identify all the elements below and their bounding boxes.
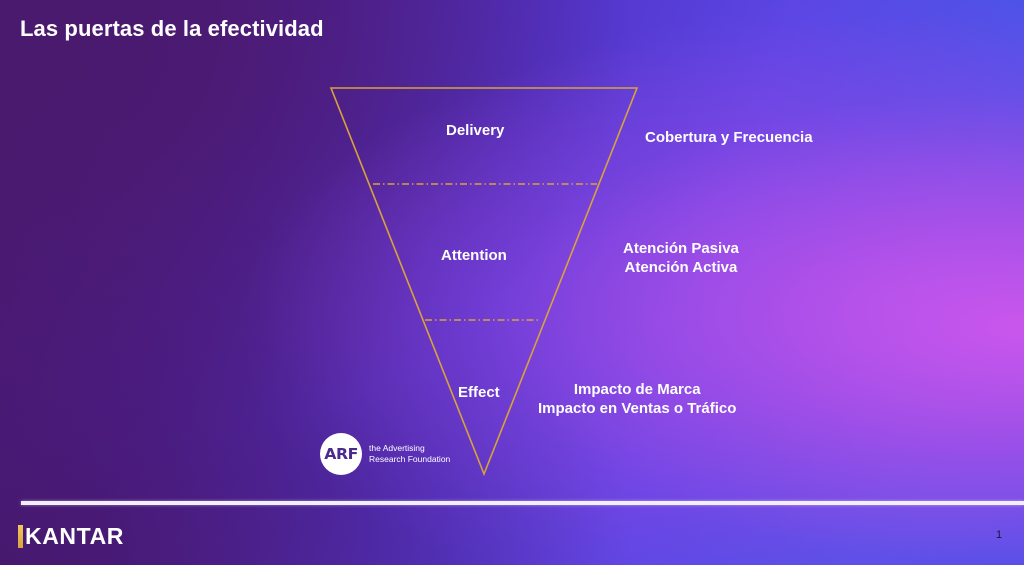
funnel-annotation-delivery: Cobertura y Frecuencia [645,128,813,147]
arf-wordmark: the Advertising Research Foundation [369,443,450,464]
annotation-line: Cobertura y Frecuencia [645,128,813,147]
funnel-annotation-effect: Impacto de Marca Impacto en Ventas o Trá… [538,380,736,418]
arf-logo: ARF the Advertising Research Foundation [320,433,450,475]
page-title: Las puertas de la efectividad [20,16,324,42]
annotation-line: Atención Pasiva [623,239,739,258]
slide-canvas: Las puertas de la efectividad Delivery A… [0,0,1024,565]
funnel-svg [0,0,1024,565]
funnel-diagram [0,0,1024,565]
arf-circle-icon: ARF [320,433,362,475]
arf-wordmark-line1: the Advertising [369,443,450,454]
page-number: 1 [996,530,1002,541]
footer-divider [21,501,1024,505]
funnel-stage-label-effect: Effect [458,384,500,401]
arf-wordmark-line2: Research Foundation [369,454,450,465]
kantar-accent-bar-icon [18,525,23,548]
funnel-stage-label-attention: Attention [441,247,507,264]
annotation-line: Atención Activa [623,258,739,277]
funnel-stage-label-delivery: Delivery [446,122,504,139]
funnel-annotation-attention: Atención Pasiva Atención Activa [623,239,739,277]
kantar-logo: KANTAR [18,525,124,548]
kantar-wordmark: KANTAR [25,525,124,548]
annotation-line: Impacto de Marca [538,380,736,399]
arf-monogram-text: ARF [324,447,358,462]
annotation-line: Impacto en Ventas o Tráfico [538,399,736,418]
